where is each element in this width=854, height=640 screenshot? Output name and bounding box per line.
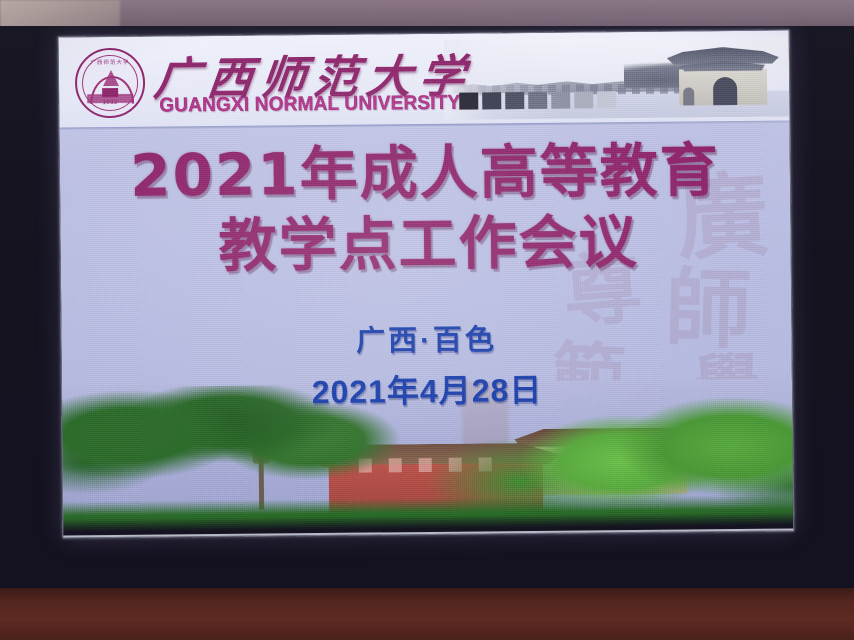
university-wordmark-en: GUANGXI NORMAL UNIVERSITY	[159, 92, 460, 118]
university-crest-icon: 广西师范大学 1932	[75, 48, 146, 119]
crest-arc-text: 广西师范大学	[77, 58, 143, 67]
subtitle-location: 广西·百色	[61, 313, 791, 362]
projection-screen: 广西师范大学 1932 广西师范大学 GUANGXI NORMAL UNIVER…	[58, 29, 795, 538]
title-line-2: 教学点工作会议	[60, 206, 791, 284]
title-line-1: 2021年成人高等教育	[60, 135, 791, 213]
presentation-slide: 广西师范大学 1932 广西师范大学 GUANGXI NORMAL UNIVER…	[59, 31, 794, 538]
wooden-desk-surface	[0, 588, 854, 640]
slide-header-band: 广西师范大学 1932 广西师范大学 GUANGXI NORMAL UNIVER…	[59, 31, 790, 128]
room-photograph: 广西师范大学 1932 广西师范大学 GUANGXI NORMAL UNIVER…	[0, 0, 854, 640]
subtitle-date: 2021年4月28日	[62, 362, 792, 415]
gray-swatch-strip	[459, 91, 616, 110]
slide-title-block: 2021年成人高等教育 教学点工作会议	[60, 135, 791, 285]
crest-year: 1932	[77, 100, 143, 107]
slide-subtitle-block: 广西·百色 2021年4月28日	[61, 313, 792, 415]
